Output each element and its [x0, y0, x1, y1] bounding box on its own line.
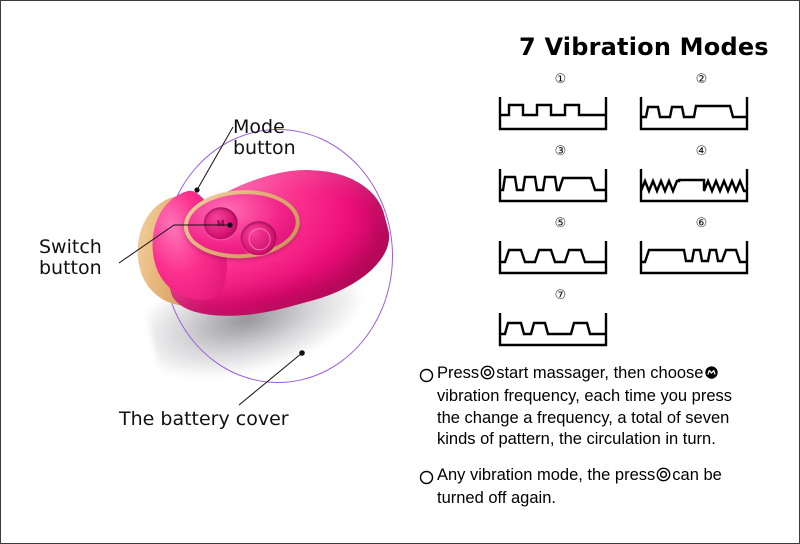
instruction-1-part-b: start massager, then choose: [496, 364, 703, 382]
mode-cell-6: ⑥: [638, 217, 765, 279]
modes-and-instructions-panel: 7 Vibration Modes ① ② ③: [411, 1, 800, 544]
mode-waveform-5: [497, 235, 609, 279]
mode-waveform-6: [638, 235, 750, 279]
mode-waveform-2: [638, 91, 750, 135]
circle-bullet-icon: [419, 368, 434, 388]
modes-row: ③ ④: [497, 145, 797, 217]
modes-row: ① ②: [497, 73, 797, 145]
instruction-1-part-c: vibration frequency, each time you press: [437, 387, 732, 405]
mode-waveform-1: [497, 91, 609, 135]
mode-number-4: ④: [638, 145, 765, 163]
power-icon: [480, 365, 495, 386]
mode-number-6: ⑥: [638, 217, 765, 235]
instruction-sheet: M Mode button Switch button The ba: [0, 0, 800, 544]
instructions-block: Press start massager, then choose vibrat…: [419, 363, 797, 524]
mode-waveform-7: [497, 307, 609, 351]
circle-bullet-icon: [419, 470, 434, 490]
instruction-1-part-d: the change a frequency, a total of seven: [437, 409, 729, 427]
modes-title: 7 Vibration Modes: [519, 33, 769, 61]
mode-number-5: ⑤: [497, 217, 624, 235]
instruction-text-1: Press start massager, then choose vibrat…: [437, 363, 732, 451]
instruction-item-1: Press start massager, then choose vibrat…: [419, 363, 797, 451]
vibration-modes-grid: ① ② ③: [497, 73, 797, 361]
mode-number-2: ②: [638, 73, 765, 91]
mode-cell-4: ④: [638, 145, 765, 207]
mode-cell-1: ①: [497, 73, 624, 135]
mode-number-7: ⑦: [497, 289, 624, 307]
instruction-text-2: Any vibration mode, the press can be tur…: [437, 465, 722, 510]
product-illustration-panel: M Mode button Switch button The ba: [1, 1, 411, 544]
label-battery-cover: The battery cover: [119, 409, 289, 430]
mode-cell-empty: [638, 289, 765, 351]
mode-cell-5: ⑤: [497, 217, 624, 279]
mode-waveform-3: [497, 163, 609, 207]
instruction-item-2: Any vibration mode, the press can be tur…: [419, 465, 797, 510]
instruction-2-part-a: Any vibration mode, the press: [437, 466, 655, 484]
mode-number-3: ③: [497, 145, 624, 163]
mode-waveform-4: [638, 163, 750, 207]
label-switch-button: Switch button: [39, 237, 102, 280]
mode-number-1: ①: [497, 73, 624, 91]
mode-cell-3: ③: [497, 145, 624, 207]
instruction-1-part-e: kinds of pattern, the circulation in tur…: [437, 430, 716, 448]
instruction-1-part-a: Press: [437, 364, 479, 382]
power-icon: [656, 467, 671, 488]
mode-icon: [704, 365, 719, 386]
modes-row: ⑤ ⑥: [497, 217, 797, 289]
label-mode-button: Mode button: [233, 117, 296, 160]
mode-cell-7: ⑦: [497, 289, 624, 351]
instruction-2-part-c: turned off again.: [437, 489, 556, 507]
instruction-2-part-b: can be: [672, 466, 722, 484]
modes-row: ⑦: [497, 289, 797, 361]
mode-cell-2: ②: [638, 73, 765, 135]
